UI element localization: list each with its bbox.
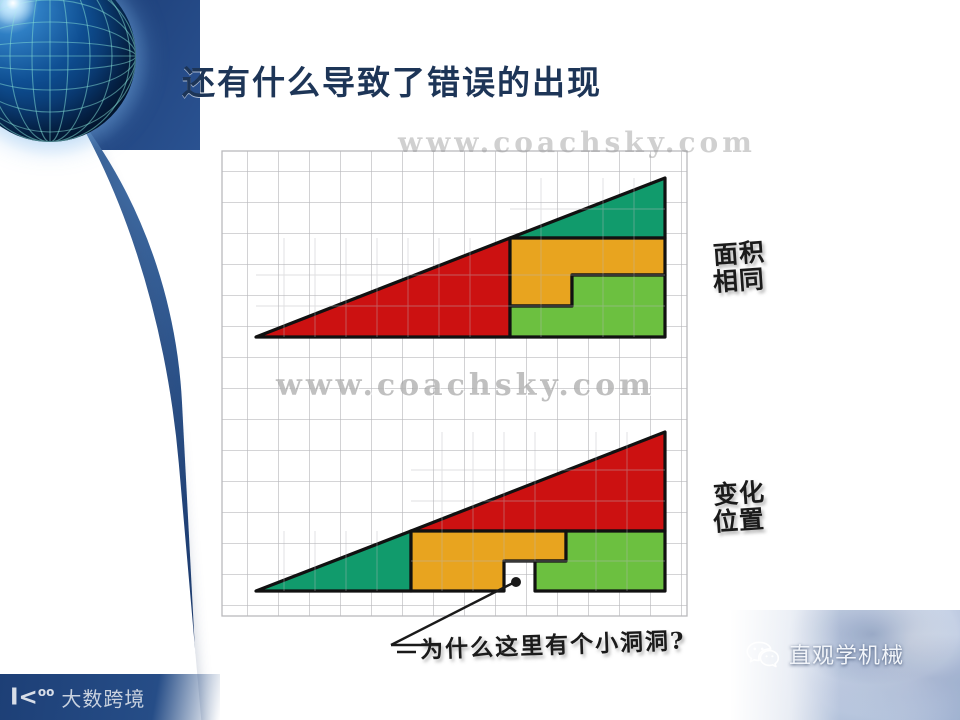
globe-sphere [0,0,136,142]
dashu-logo-icon: I<oo [10,686,54,710]
annotation-changed-position: 变化 位置 [712,478,768,535]
wechat-icon [746,641,780,668]
dashu-logo-mark: I< [10,684,38,710]
annotation-same-area-line2: 相同 [712,265,768,296]
brand-left-text: 大数跨境 [61,683,145,712]
brand-right-text: 直观学机械 [789,638,904,670]
slide-canvas: 还有什么导致了错误的出现 [0,0,960,720]
dashu-logo-sup: oo [38,685,55,699]
watermark-main: www.coachsky.com [276,368,655,403]
brand-left: I<oo 大数跨境 [10,683,145,712]
brand-right-row: 直观学机械 [746,638,904,670]
brand-right: 直观学机械 [730,610,960,720]
annotation-changed-position-line2: 位置 [712,505,768,536]
annotation-same-area: 面积 相同 [712,238,768,295]
slide-title: 还有什么导致了错误的出现 [182,56,602,104]
watermark-top: www.coachsky.com [398,126,756,159]
globe-graphic [0,0,154,160]
